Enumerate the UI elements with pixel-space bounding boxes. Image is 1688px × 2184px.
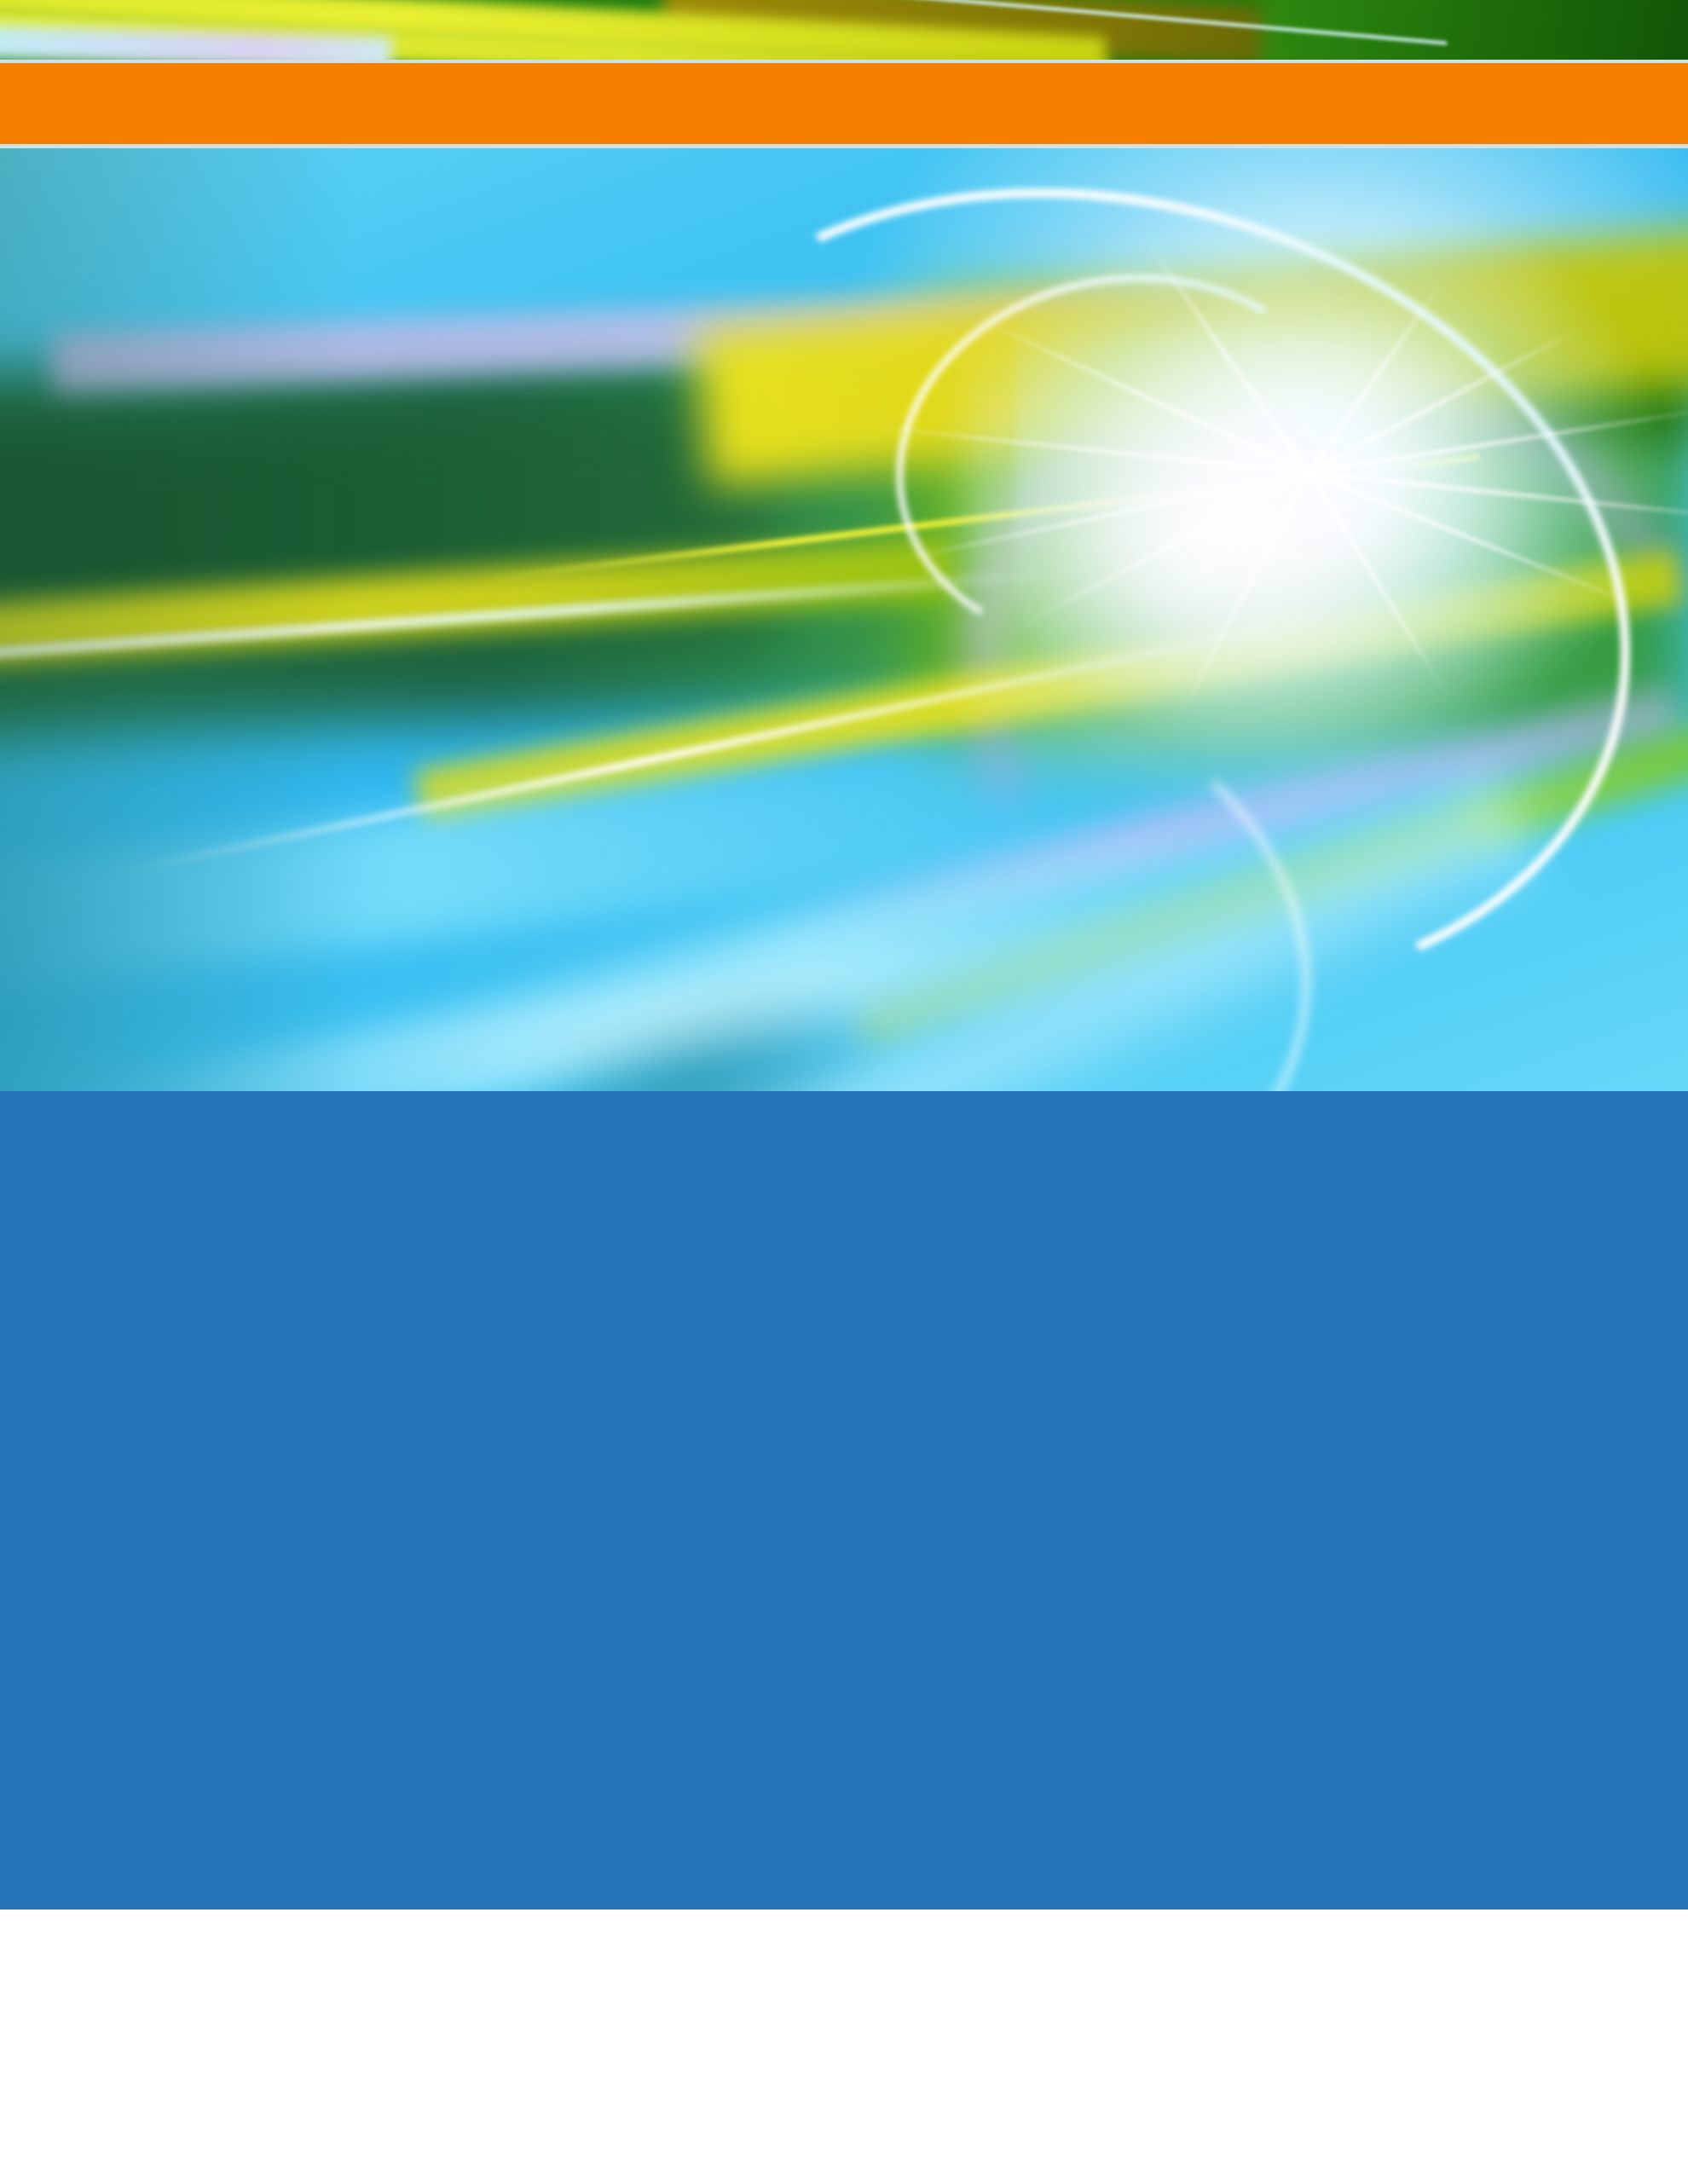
cover-page: Project Manager Skills Benchmark 2015 SP… [0, 0, 1688, 2184]
artwork-green-band [1262, 0, 1688, 60]
orange-accent-bar [0, 60, 1688, 148]
hero-artwork [0, 148, 1688, 1091]
top-artwork-strip [0, 0, 1688, 60]
footer: SPONSORED BY pmcollege® pmsolutions »res… [0, 1910, 1688, 2184]
hero-light-burst-inner [963, 327, 1560, 805]
title-panel: Project Manager Skills Benchmark 2015 [0, 1091, 1688, 1910]
